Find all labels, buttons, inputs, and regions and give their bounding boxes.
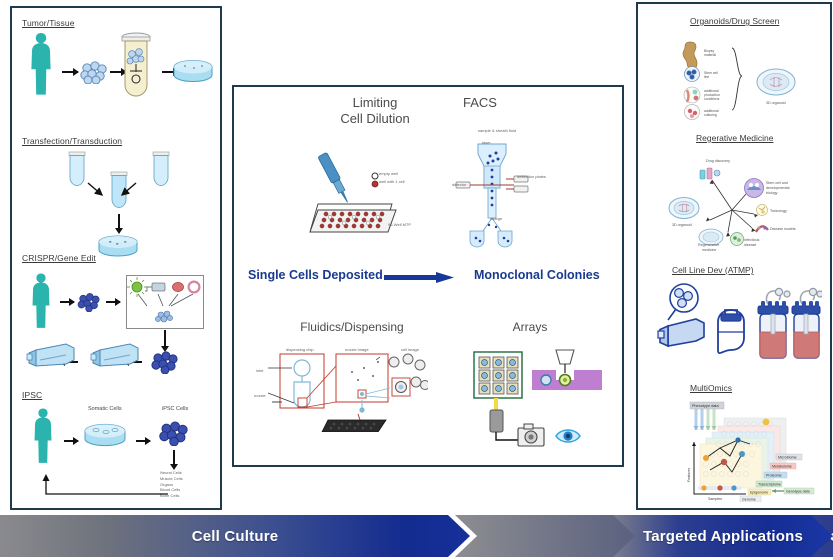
label-inlet: inlet — [256, 368, 263, 373]
svg-text:Phenotype data: Phenotype data — [692, 404, 719, 408]
label-facs-laser: laser — [482, 140, 491, 145]
section-title-multiomics: MultiOmics — [690, 383, 732, 393]
cell-cluster-edited-icon — [150, 350, 180, 374]
flow-label-from: Single Cells Deposited — [248, 268, 383, 282]
cell-cluster-icon — [80, 60, 108, 84]
limiting-dilution-illustration — [300, 148, 410, 243]
banner-label-cell-culture: Cell Culture — [182, 528, 289, 545]
svg-text:Proteome: Proteome — [766, 474, 782, 478]
person-ipsc-icon — [28, 404, 58, 466]
svg-text:Disease models: Disease models — [770, 227, 796, 231]
svg-text:conditions: conditions — [704, 97, 720, 101]
section-title-transfection: Transfection/Transduction — [22, 136, 122, 146]
svg-text:Drug discovery: Drug discovery — [706, 159, 730, 163]
section-title-regenerative: Regerative Medicine — [696, 133, 773, 143]
petri-dish-icon — [172, 58, 214, 86]
label-facs-detector: deflection plates — [517, 174, 546, 179]
svg-text:Genome: Genome — [742, 498, 756, 502]
arrow-ipsc-down — [173, 450, 175, 464]
arrow-transfection-down — [118, 214, 120, 228]
svg-text:Genotype data: Genotype data — [786, 490, 810, 494]
svg-text:Features: Features — [687, 468, 691, 482]
arrow-crispr-2 — [106, 301, 120, 303]
person-icon — [24, 30, 58, 96]
arrow-crispr-1 — [60, 301, 74, 303]
title-fluidics-dispensing: Fluidics/Dispensing — [282, 320, 422, 335]
label-facs-left-detector: detector — [452, 182, 466, 187]
label-facs-charge: charge — [490, 216, 502, 221]
section-title-ipsc: IPSC — [22, 390, 42, 400]
svg-text:3D organoid: 3D organoid — [766, 101, 786, 105]
flow-label-to: Monoclonal Colonies — [474, 268, 600, 282]
label-nozzle-part: nozzle — [254, 393, 266, 398]
cell-cluster-crispr-icon — [76, 292, 102, 312]
svg-text:material: material — [704, 53, 716, 57]
arrow-tumor-1 — [62, 71, 78, 73]
tube-right-icon — [148, 150, 174, 190]
multiomics-illustration: Phenotype data Microbiome Metabolome Pro… — [680, 400, 820, 502]
arrays-illustration — [470, 348, 610, 448]
banner-stage-targeted-applications[interactable]: Targeted Applications — [613, 515, 833, 557]
banner-label-targeted-applications: Targeted Applications — [633, 528, 813, 545]
section-title-crispr: CRISPR/Gene Edit — [22, 253, 96, 263]
svg-text:Samples: Samples — [708, 497, 722, 501]
section-title-tumor-tissue: Tumor/Tissue — [22, 18, 75, 28]
svg-text:line: line — [704, 75, 709, 79]
svg-text:biology: biology — [766, 191, 778, 195]
svg-text:disease: disease — [744, 243, 756, 247]
svg-text:Stem cell and: Stem cell and — [766, 181, 788, 185]
dissociation-tube-icon — [114, 30, 158, 102]
facs-illustration — [440, 128, 552, 250]
label-somatic-cells: Somatic Cells — [88, 406, 122, 412]
svg-text:developmental: developmental — [766, 186, 790, 190]
section-title-organoids: Organoids/Drug Screen — [690, 16, 779, 26]
arrow-crispr-down — [164, 330, 166, 346]
svg-text:3D organoid: 3D organoid — [672, 223, 692, 227]
transfection-arrows — [86, 180, 138, 204]
svg-text:culturing: culturing — [704, 113, 717, 117]
svg-text:Metabolome: Metabolome — [772, 465, 792, 469]
petri-dish-somatic-icon — [82, 422, 128, 450]
cell-cluster-ipsc-icon — [158, 420, 190, 446]
arrow-ipsc-1 — [64, 440, 78, 442]
title-limiting-cell-dilution: Limiting Cell Dilution — [320, 95, 430, 127]
svg-text:Toxicology: Toxicology — [770, 209, 787, 213]
culture-flask-icon-1 — [90, 340, 140, 372]
person-crispr-icon — [26, 270, 56, 330]
svg-text:Regenerative: Regenerative — [698, 243, 719, 247]
svg-text:Infectious: Infectious — [744, 238, 760, 242]
svg-text:medicine: medicine — [702, 248, 716, 252]
svg-text:Transcriptome: Transcriptome — [758, 483, 781, 487]
cell-line-dev-illustration — [656, 282, 822, 364]
label-facs-top: sample & sheath fluid — [478, 128, 516, 133]
banner-stage-cell-culture[interactable]: Cell Culture — [0, 515, 470, 557]
svg-text:Epigenome: Epigenome — [750, 491, 768, 495]
delivery-methods-icons — [126, 275, 202, 327]
petri-dish-transfection-icon — [96, 234, 140, 260]
arrow-ipsc-2 — [136, 440, 150, 442]
legend-filled-well: well with 1 cell — [379, 179, 405, 184]
title-arrays: Arrays — [490, 320, 570, 335]
label-ipsc-cells: iPSC Cells — [162, 406, 188, 412]
culture-flask-icon-2 — [26, 340, 76, 372]
cell-culture-panel: Tumor/Tissue Transfection/Transduction — [10, 6, 222, 510]
workflow-banner: Cell Culture Isolation & Sorting Targete… — [0, 515, 833, 557]
section-title-cell-line-dev: Cell Line Dev (ATMP) — [672, 265, 754, 275]
organoid-illustration: Biopsymaterial Stem cellline additionalp… — [676, 38, 810, 122]
label-96-well-mtp: 96-Well MTP — [388, 222, 411, 227]
regenerative-medicine-illustration: Drug discovery Stem cell and development… — [664, 148, 814, 252]
fluidics-illustration — [268, 352, 428, 432]
title-facs: FACS — [440, 95, 520, 111]
svg-text:Microbiome: Microbiome — [778, 456, 797, 460]
ipsc-feedback-loop — [38, 468, 170, 500]
legend-empty-well: empty well — [379, 171, 398, 176]
